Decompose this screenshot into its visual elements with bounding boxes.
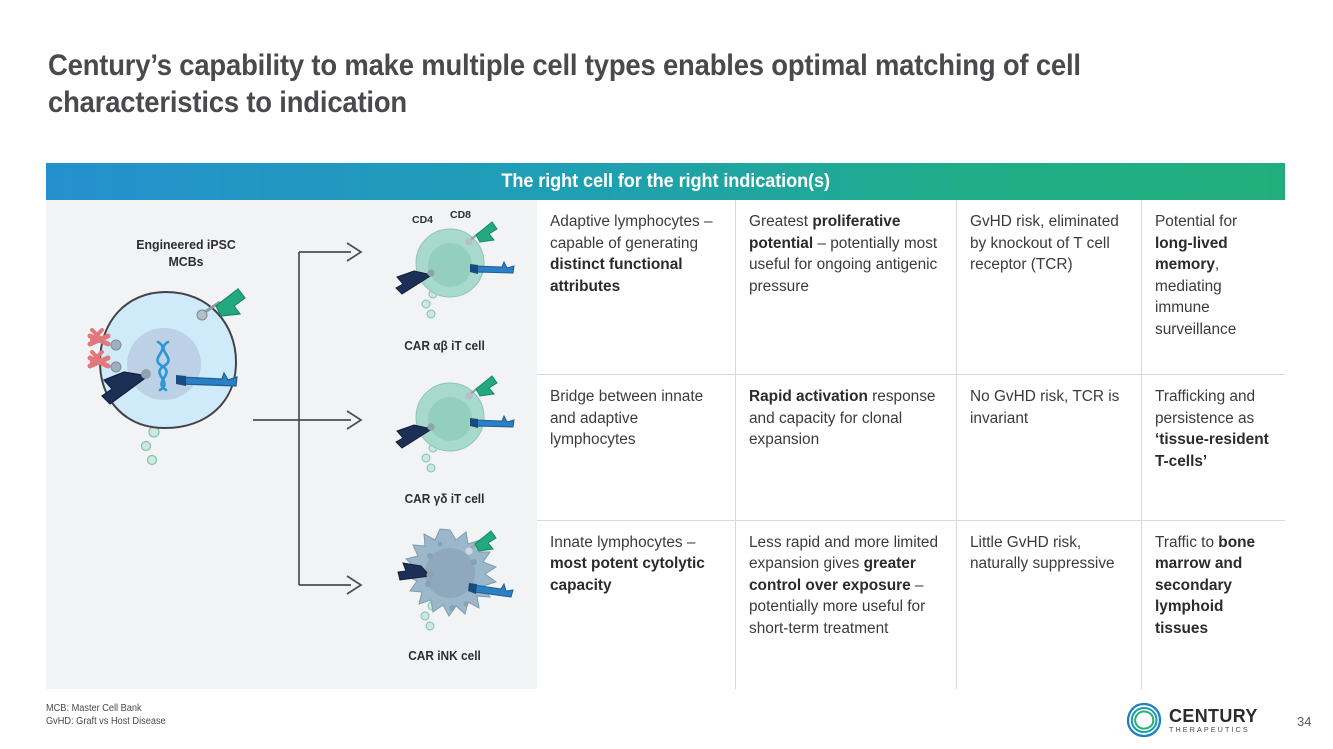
ipsc-source-label: Engineered iPSC MCBs <box>96 236 277 270</box>
diagram-panel: Engineered iPSC MCBs <box>46 200 537 689</box>
table-row: Bridge between innate and adaptive lymph… <box>537 375 1285 520</box>
table-cell-r3c4: Traffic to bone marrow and secondary lym… <box>1142 521 1285 689</box>
slide-content: Engineered iPSC MCBs <box>46 200 1285 689</box>
table-cell-r2c3: No GvHD risk, TCR is invariant <box>957 375 1142 519</box>
page-title: Century’s capability to make multiple ce… <box>48 47 1145 121</box>
cell-caption-gd-it: CAR γδ iT cell <box>361 492 527 506</box>
table-cell-r1c1: Adaptive lymphocytes – capable of genera… <box>537 200 736 374</box>
car-gd-it-cell-illustration <box>370 366 520 491</box>
century-ring-icon <box>1124 700 1164 740</box>
logo-tagline: THERAPEUTICS <box>1169 725 1261 735</box>
ipsc-source-label-line1: Engineered iPSC <box>136 237 236 252</box>
footnotes: MCB: Master Cell Bank GvHD: Graft vs Hos… <box>46 702 166 728</box>
table-cell-r2c2: Rapid activation response and capacity f… <box>736 375 957 519</box>
logo-company-name: CENTURY <box>1169 706 1258 725</box>
table-cell-r3c1: Innate lymphocytes – most potent cytolyt… <box>537 521 736 689</box>
cell-caption-ink: CAR iNK cell <box>361 649 527 663</box>
table-cell-r1c2: Greatest proliferative potential – poten… <box>736 200 957 374</box>
table-cell-r1c3: GvHD risk, eliminated by knockout of T c… <box>957 200 1142 374</box>
section-banner: The right cell for the right indication(… <box>46 163 1285 200</box>
car-ink-cell-illustration <box>370 518 520 648</box>
marker-label-cd8: CD8 <box>450 209 471 221</box>
table-row: Adaptive lymphocytes – capable of genera… <box>537 200 1285 375</box>
company-logo: CENTURY THERAPEUTICS <box>1124 700 1261 740</box>
car-ab-it-cell-illustration: CD4 CD8 <box>370 208 520 338</box>
cell-caption-ab-it: CAR αβ iT cell <box>361 339 527 353</box>
table-row: Innate lymphocytes – most potent cytolyt… <box>537 521 1285 689</box>
cell-card-ink: CAR iNK cell <box>357 518 532 663</box>
logo-text: CENTURY THERAPEUTICS <box>1169 706 1261 735</box>
footnote-mcb: MCB: Master Cell Bank <box>46 702 166 715</box>
page-number: 34 <box>1297 714 1311 729</box>
ipsc-cell-illustration <box>68 276 265 476</box>
footnote-gvhd: GvHD: Graft vs Host Disease <box>46 715 166 728</box>
table-cell-r3c3: Little GvHD risk, naturally suppressive <box>957 521 1142 689</box>
characteristics-table: Adaptive lymphocytes – capable of genera… <box>537 200 1285 689</box>
cell-card-ab-it: CD4 CD8 <box>357 208 532 353</box>
table-cell-r2c1: Bridge between innate and adaptive lymph… <box>537 375 736 519</box>
table-cell-r3c2: Less rapid and more limited expansion gi… <box>736 521 957 689</box>
cell-card-gd-it: CAR γδ iT cell <box>357 366 532 506</box>
marker-label-cd4: CD4 <box>412 214 433 226</box>
table-cell-r2c4: Trafficking and persistence as ‘tissue-r… <box>1142 375 1285 519</box>
banner-label: The right cell for the right indication(… <box>501 170 830 193</box>
ipsc-source-label-line2: MCBs <box>168 254 203 269</box>
table-cell-r1c4: Potential for long-lived memory, mediati… <box>1142 200 1285 374</box>
